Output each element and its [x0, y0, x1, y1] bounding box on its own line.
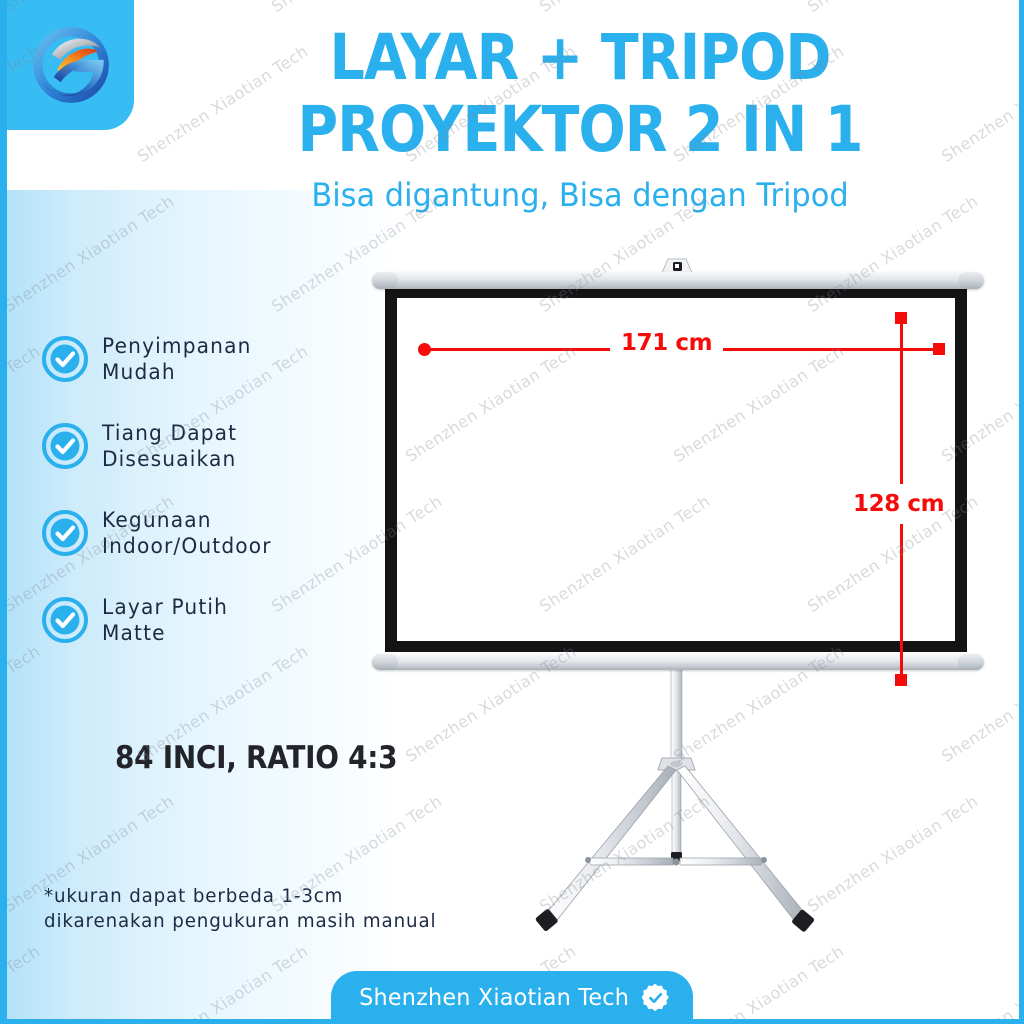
measurement-disclaimer: *ukuran dapat berbeda 1-3cm dikarenakan …: [44, 884, 436, 934]
page-border-left: [0, 0, 7, 1024]
feature-label: Kegunaan Indoor/Outdoor: [102, 507, 272, 559]
list-item: Penyimpanan Mudah: [42, 333, 372, 385]
tripod-stand: [355, 658, 1005, 958]
height-dimension-label: 128 cm: [847, 484, 950, 524]
watermark-text: Shenzhen Xiaotian Tech: [536, 0, 713, 16]
page-title-line-1: LAYAR + TRIPOD: [202, 22, 959, 94]
list-item: Layar Putih Matte: [42, 594, 372, 646]
page-subtitle: Bisa digantung, Bisa dengan Tripod: [172, 176, 989, 214]
brand-logo-badge: [7, 0, 134, 130]
feature-label: Penyimpanan Mudah: [102, 333, 252, 385]
store-footer-banner: Shenzhen Xiaotian Tech: [331, 971, 693, 1024]
feature-label: Layar Putih Matte: [102, 594, 228, 646]
feature-label: Tiang Dapat Disesuaikan: [102, 420, 237, 472]
page-border-right: [1019, 0, 1024, 1024]
size-headline: 84 INCI, RATIO 4:3: [115, 740, 397, 776]
product-listing-image: 171 cm 128 cm: [0, 0, 1024, 1024]
check-circle-icon: [42, 597, 88, 643]
product-illustration: 171 cm 128 cm: [355, 250, 1005, 970]
width-dimension-label: 171 cm: [610, 330, 723, 356]
width-dimension-endpoint-left: [418, 343, 431, 356]
check-circle-icon: [42, 423, 88, 469]
watermark-text: Shenzhen Xiaotian Tech: [804, 0, 981, 16]
bottom-bar-cap-right: [958, 654, 984, 670]
check-circle-icon: [42, 510, 88, 556]
roller-end-cap-right: [958, 272, 984, 289]
list-item: Kegunaan Indoor/Outdoor: [42, 507, 372, 559]
height-dimension-endpoint-top: [895, 312, 907, 324]
page-title-line-2: PROYEKTOR 2 IN 1: [202, 94, 959, 166]
page-border-bottom: [0, 1019, 1024, 1024]
bottom-bar-cap-left: [372, 654, 398, 670]
check-circle-icon: [42, 336, 88, 382]
roller-end-cap-left: [372, 272, 398, 289]
screen-bottom-bar: [372, 654, 984, 670]
store-name: Shenzhen Xiaotian Tech: [360, 985, 630, 1011]
company-swoosh-logo-icon: [28, 22, 114, 108]
height-dimension-endpoint-bottom: [895, 674, 907, 686]
screen-roller-bar: [372, 272, 984, 289]
header-title-block: LAYAR + TRIPOD PROYEKTOR 2 IN 1 Bisa dig…: [150, 22, 1010, 214]
watermark-text: Shenzhen Xiaotian Tech: [268, 0, 445, 16]
feature-list: Penyimpanan Mudah Tiang Dapat Disesuaika…: [42, 333, 372, 646]
width-dimension-endpoint-right: [933, 343, 945, 355]
verified-badge-icon: [642, 984, 669, 1011]
list-item: Tiang Dapat Disesuaikan: [42, 420, 372, 472]
